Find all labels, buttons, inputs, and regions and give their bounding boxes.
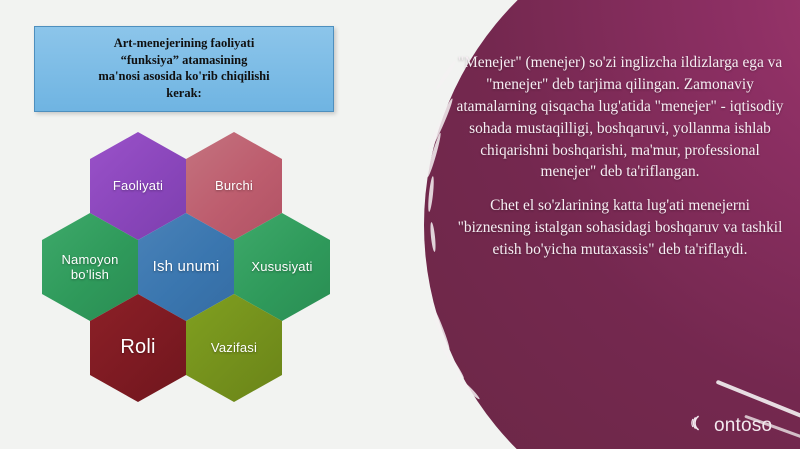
contoso-arcs-icon [690, 412, 712, 439]
brush-stroke [455, 375, 481, 400]
brush-stroke [427, 301, 451, 351]
hex-label: Xususiyati [251, 259, 312, 274]
title-line-1: Art-menejerining faoliyati [45, 35, 323, 52]
hex-label: Roli [120, 336, 155, 360]
paragraph-1: "Menejer" (menejer) so'zi inglizcha ildi… [452, 52, 788, 183]
brush-stroke [426, 132, 443, 177]
brush-stroke [439, 342, 466, 379]
title-line-2: “funksiya” atamasining [45, 52, 323, 69]
hex-label: Vazifasi [211, 340, 257, 355]
brush-stroke [426, 97, 454, 152]
title-line-3: ma'nosi asosida ko'rib chiqilishi [45, 68, 323, 85]
slide-title-banner: Art-menejerining faoliyati “funksiya” at… [34, 26, 334, 112]
title-line-4: kerak: [45, 85, 323, 102]
hex-label: Burchi [215, 178, 253, 193]
hex-label: Faoliyati [113, 178, 163, 193]
hex-label: Ish unumi [153, 258, 220, 276]
honeycomb-diagram: Faoliyati Burchi Namoyon bo’lish Ish unu… [28, 132, 358, 412]
contoso-logo: ontoso [690, 412, 772, 439]
hex-label: Namoyon bo’lish [48, 252, 132, 283]
body-text-panel: "Menejer" (menejer) so'zi inglizcha ildi… [452, 52, 788, 261]
brush-stroke [429, 222, 436, 252]
paragraph-2: Chet el so'zlarining katta lug'ati menej… [452, 195, 788, 261]
contoso-wordmark: ontoso [714, 416, 772, 435]
brush-stroke [427, 176, 435, 212]
